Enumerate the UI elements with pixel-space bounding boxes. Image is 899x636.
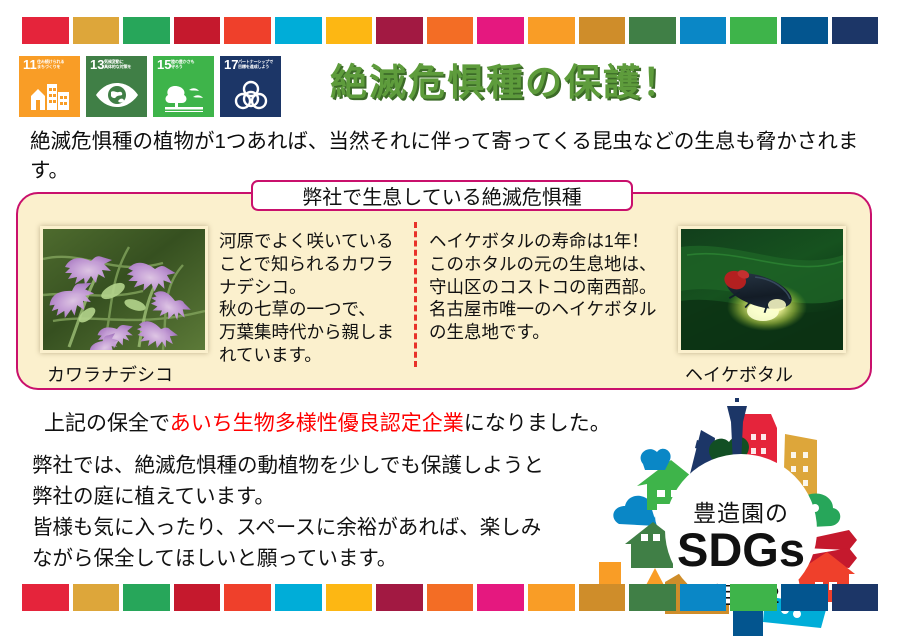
sdg-goal-label-17: パートナーシップで 目標を達成しよう bbox=[238, 59, 279, 69]
city-icon bbox=[29, 80, 71, 110]
species-panel-heading: 弊社で生息している絶滅危惧種 bbox=[251, 180, 633, 211]
page-title: 絶滅危惧種の保護！ bbox=[330, 52, 681, 106]
heikebotaru-description: ヘイケボタルの寿命は1年！ このホタルの元の生息地は、 守山区のコストコの南西部… bbox=[429, 230, 674, 344]
sdg-goal-label-11: 住み続けられる まちづくりを bbox=[37, 59, 78, 69]
sdg-goal-icon-group: 11住み続けられる まちづくりを13気候変動に 具体的な対策を15陸の豊かさも … bbox=[19, 56, 281, 117]
sdg-color-swatch-11 bbox=[528, 17, 575, 44]
flower-photo-art bbox=[43, 229, 205, 350]
sdg-color-swatch-13 bbox=[629, 17, 676, 44]
sdg-color-swatch-15 bbox=[730, 584, 777, 611]
sdg-color-swatch-10 bbox=[477, 584, 524, 611]
certification-prefix: 上記の保全で bbox=[44, 412, 170, 435]
intro-paragraph: 絶滅危惧種の植物が1つあれば、当然それに伴って寄ってくる昆虫などの生息も脅かされ… bbox=[30, 127, 875, 185]
sdg-color-swatch-9 bbox=[427, 584, 474, 611]
eye-earth-icon bbox=[96, 80, 138, 110]
sdg-color-bar-top bbox=[22, 17, 878, 44]
sdg-color-swatch-4 bbox=[174, 584, 221, 611]
sdg-goal-number-11: 11 bbox=[23, 58, 37, 71]
sdg-color-swatch-4 bbox=[174, 17, 221, 44]
sdg-color-swatch-8 bbox=[376, 584, 423, 611]
sdg-color-swatch-7 bbox=[326, 584, 373, 611]
sdg-color-swatch-1 bbox=[22, 17, 69, 44]
sdg-goal-number-13: 13 bbox=[90, 58, 104, 71]
certification-suffix: になりました。 bbox=[464, 412, 611, 435]
certification-line: 上記の保全であいち生物多様性優良認定企業になりました。 bbox=[44, 407, 611, 437]
sdg-color-swatch-9 bbox=[427, 17, 474, 44]
sdg-color-swatch-8 bbox=[376, 17, 423, 44]
tree-birds-icon bbox=[153, 80, 214, 114]
sdg-color-swatch-11 bbox=[528, 584, 575, 611]
sdg-goal-label-13: 気候変動に 具体的な対策を bbox=[104, 59, 145, 69]
sdg-color-swatch-16 bbox=[781, 17, 828, 44]
sdg-goal-icon-17: 17パートナーシップで 目標を達成しよう bbox=[220, 56, 281, 117]
eye-earth-icon bbox=[86, 80, 147, 114]
sdg-color-swatch-14 bbox=[680, 584, 727, 611]
kawaranadeshiko-caption: カワラナデシコ bbox=[47, 361, 173, 387]
sdg-color-swatch-1 bbox=[22, 584, 69, 611]
sdg-color-swatch-17 bbox=[832, 584, 879, 611]
sdg-color-swatch-2 bbox=[73, 17, 120, 44]
certification-highlight: あいち生物多様性優良認定企業 bbox=[170, 412, 464, 435]
panel-divider bbox=[414, 222, 417, 367]
heikebotaru-caption: ヘイケボタル bbox=[685, 361, 793, 387]
partnership-circles-icon bbox=[234, 80, 268, 112]
sdg-color-swatch-12 bbox=[579, 17, 626, 44]
sdg-color-swatch-16 bbox=[781, 584, 828, 611]
sdg-goal-icon-13: 13気候変動に 具体的な対策を bbox=[86, 56, 147, 117]
kawaranadeshiko-photo bbox=[40, 226, 208, 353]
sdg-color-swatch-3 bbox=[123, 17, 170, 44]
sdg-color-swatch-5 bbox=[224, 584, 271, 611]
sdg-color-swatch-5 bbox=[224, 17, 271, 44]
sdg-color-swatch-6 bbox=[275, 17, 322, 44]
kawaranadeshiko-description: 河原でよく咲いている ことで知られるカワラ ナデシコ。 秋の七草の一つで、 万葉… bbox=[219, 230, 399, 367]
sdg-color-swatch-3 bbox=[123, 584, 170, 611]
sdg-goal-icon-11: 11住み続けられる まちづくりを bbox=[19, 56, 80, 117]
sdg-goal-icon-15: 15陸の豊かさも 守ろう bbox=[153, 56, 214, 117]
heikebotaru-photo bbox=[678, 226, 846, 353]
sdg-color-swatch-13 bbox=[629, 584, 676, 611]
closing-paragraph: 弊社では、絶滅危惧種の動植物を少しでも保護しようと 弊社の庭に植えています。 皆… bbox=[32, 450, 612, 575]
partnership-circles-icon bbox=[220, 80, 281, 114]
sdg-color-swatch-12 bbox=[579, 584, 626, 611]
sdg-color-swatch-7 bbox=[326, 17, 373, 44]
sdg-color-swatch-17 bbox=[832, 17, 879, 44]
sdg-color-swatch-14 bbox=[680, 17, 727, 44]
sdg-goal-label-15: 陸の豊かさも 守ろう bbox=[171, 59, 212, 69]
sdg-color-swatch-10 bbox=[477, 17, 524, 44]
firefly-photo-art bbox=[681, 229, 843, 350]
city-icon bbox=[19, 80, 80, 114]
sdg-goal-number-15: 15 bbox=[157, 58, 171, 71]
sdg-color-swatch-2 bbox=[73, 584, 120, 611]
sdg-color-bar-bottom bbox=[22, 584, 878, 611]
sdg-goal-number-17: 17 bbox=[224, 58, 238, 71]
tree-birds-icon bbox=[163, 80, 205, 112]
sdg-color-swatch-15 bbox=[730, 17, 777, 44]
sdg-color-swatch-6 bbox=[275, 584, 322, 611]
